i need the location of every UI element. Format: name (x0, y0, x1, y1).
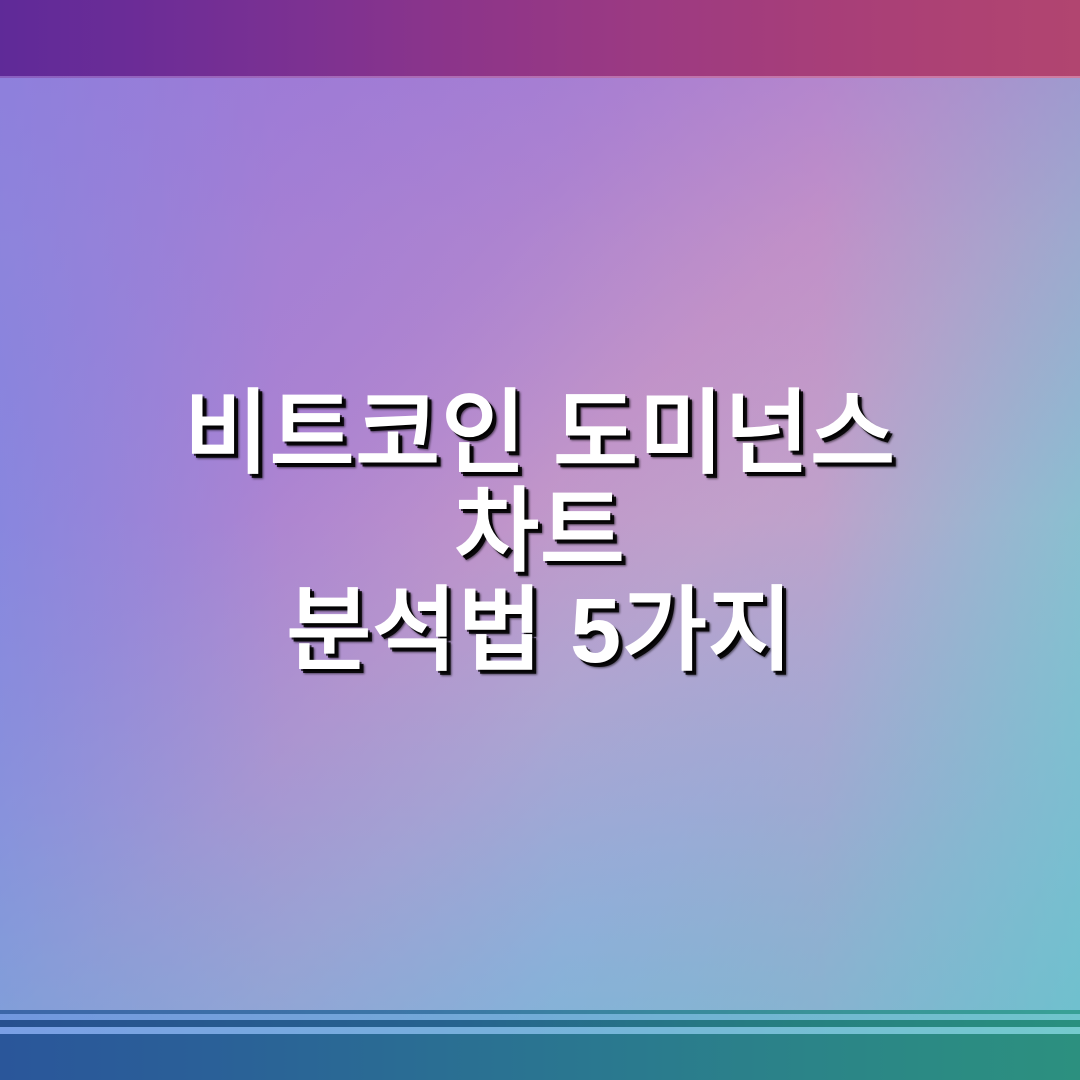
stripe-light-lower (0, 1027, 1080, 1034)
header-band (0, 0, 1080, 78)
decorative-stripes (0, 1006, 1080, 1034)
footer-band (0, 1034, 1080, 1080)
stripe-dark-lower (0, 1020, 1080, 1027)
title-card: 비트코인 도미넌스 차트 분석법 5가지 (0, 0, 1080, 1080)
header-band-edge-highlight (0, 76, 1080, 78)
background-gradient-vertical (0, 0, 1080, 1080)
